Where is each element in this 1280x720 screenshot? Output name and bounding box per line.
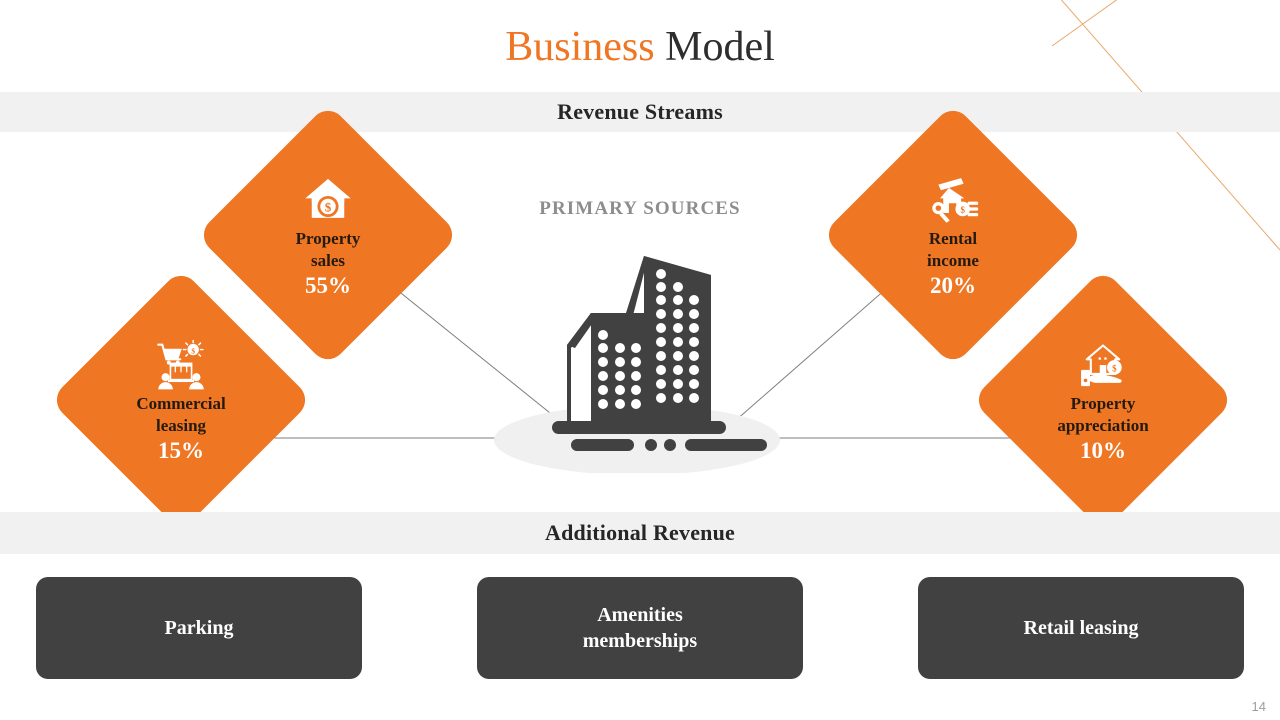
svg-text:$: $ xyxy=(325,200,332,215)
revenue-node-label: Property appreciation xyxy=(1057,393,1148,436)
house-key-coins-icon: $ xyxy=(927,174,979,226)
page-title: Business Model xyxy=(0,24,1280,70)
label-line-2: appreciation xyxy=(1057,416,1148,435)
additional-revenue-card-parking[interactable]: Parking xyxy=(36,577,362,679)
label-line-2: income xyxy=(927,251,979,270)
slide-canvas: Business Model Revenue Streams PRIMARY S… xyxy=(0,0,1280,720)
section-header-additional-revenue: Additional Revenue xyxy=(0,512,1280,554)
revenue-node-content: $ Rental income 20% xyxy=(838,148,1068,326)
revenue-node-content: $ Property sales 55% xyxy=(213,148,443,326)
revenue-node-commercial-leasing[interactable]: $ xyxy=(88,307,274,493)
card-label: Amenities memberships xyxy=(569,602,711,654)
house-dollar-icon: $ xyxy=(302,174,354,226)
page-number: 14 xyxy=(1252,699,1266,714)
section-header-revenue-streams: Revenue Streams xyxy=(0,92,1280,132)
revenue-node-label: Commercial leasing xyxy=(136,393,225,436)
label-line-2: sales xyxy=(311,251,345,270)
revenue-node-value: 20% xyxy=(930,272,976,300)
label-line-1: Commercial xyxy=(136,394,225,413)
revenue-node-label: Rental income xyxy=(927,228,979,271)
label-line-1: Property xyxy=(1071,394,1136,413)
revenue-node-value: 15% xyxy=(158,437,204,465)
revenue-node-content: $ Property appreciation 10% xyxy=(988,313,1218,491)
page-title-accent: Business xyxy=(505,24,654,70)
revenue-node-property-sales[interactable]: $ Property sales 55% xyxy=(235,142,421,328)
card-label-line-1: Retail leasing xyxy=(1024,617,1139,639)
card-label-line-1: Parking xyxy=(165,617,234,639)
hand-house-coin-icon: $ xyxy=(1077,339,1129,391)
svg-text:$: $ xyxy=(961,205,966,215)
revenue-node-value: 10% xyxy=(1080,437,1126,465)
label-line-2: leasing xyxy=(156,416,206,435)
section-header-additional-revenue-label: Additional Revenue xyxy=(545,520,735,546)
svg-text:$: $ xyxy=(191,347,195,356)
revenue-node-rental-income[interactable]: $ Rental income 20% xyxy=(860,142,1046,328)
card-label-line-1: Amenities xyxy=(597,604,683,626)
label-line-1: Rental xyxy=(929,229,977,248)
additional-revenue-card-amenities-memberships[interactable]: Amenities memberships xyxy=(477,577,803,679)
hub-label: PRIMARY SOURCES xyxy=(440,198,840,220)
page-title-rest: Model xyxy=(655,24,775,70)
card-label: Retail leasing xyxy=(1010,615,1153,641)
revenue-node-label: Property sales xyxy=(296,228,361,271)
shop-cart-people-icon: $ xyxy=(155,339,207,391)
revenue-node-content: $ xyxy=(66,313,296,491)
revenue-node-property-appreciation[interactable]: $ Property appreciation 10% xyxy=(1010,307,1196,493)
svg-text:$: $ xyxy=(1112,364,1117,374)
section-header-revenue-streams-label: Revenue Streams xyxy=(557,99,723,125)
revenue-node-value: 55% xyxy=(305,272,351,300)
additional-revenue-card-retail-leasing[interactable]: Retail leasing xyxy=(918,577,1244,679)
label-line-1: Property xyxy=(296,229,361,248)
card-label-line-2: memberships xyxy=(583,630,697,652)
city-buildings-icon xyxy=(489,243,789,473)
card-label: Parking xyxy=(151,615,248,641)
